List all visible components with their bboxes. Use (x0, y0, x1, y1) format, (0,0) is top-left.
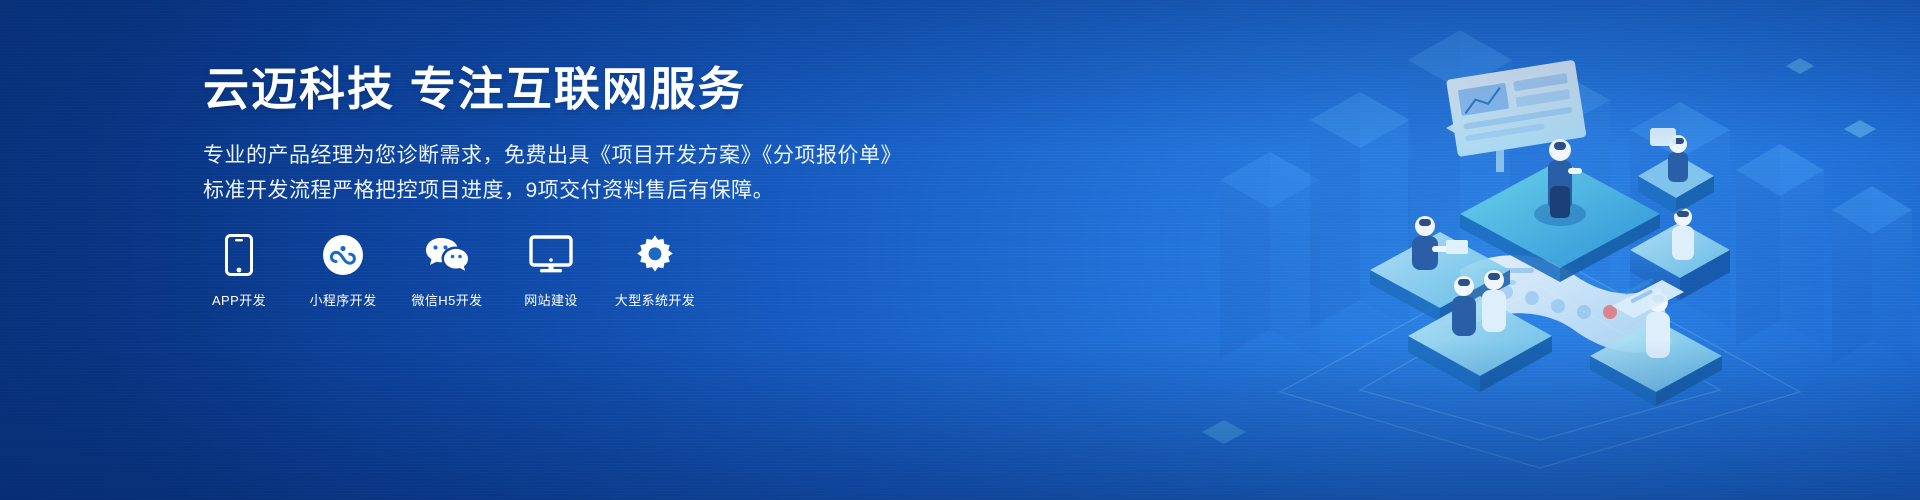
service-list: APP开发 小程序开发 (203, 232, 691, 309)
isometric-illustration (1160, 0, 1920, 500)
monitor-icon (529, 232, 573, 278)
gear-icon (634, 232, 676, 278)
mini-program-icon (322, 232, 364, 278)
service-item-app[interactable]: APP开发 (203, 232, 275, 309)
service-label-large-system: 大型系统开发 (615, 290, 695, 309)
service-label-website: 网站建设 (524, 290, 578, 309)
service-label-miniprogram: 小程序开发 (309, 290, 376, 309)
mobile-phone-icon (225, 232, 253, 278)
hero-subtitle-line-2: 标准开发流程严格把控项目进度，9项交付资料售后有保障。 (203, 173, 903, 208)
service-item-miniprogram[interactable]: 小程序开发 (307, 232, 379, 309)
hero-banner: 云迈科技 专注互联网服务 专业的产品经理为您诊断需求，免费出具《项目开发方案》《… (0, 0, 1920, 500)
hero-copy: 云迈科技 专注互联网服务 专业的产品经理为您诊断需求，免费出具《项目开发方案》《… (203, 66, 903, 208)
hero-subtitle-line-1: 专业的产品经理为您诊断需求，免费出具《项目开发方案》《分项报价单》 (203, 138, 903, 173)
wechat-icon (424, 232, 470, 278)
service-item-large-system[interactable]: 大型系统开发 (619, 232, 691, 309)
service-item-website[interactable]: 网站建设 (515, 232, 587, 309)
page-title: 云迈科技 专注互联网服务 (203, 66, 903, 112)
service-label-app: APP开发 (212, 290, 266, 309)
service-label-wechat-h5: 微信H5开发 (411, 290, 482, 309)
service-item-wechat-h5[interactable]: 微信H5开发 (411, 232, 483, 309)
hero-subtitle: 专业的产品经理为您诊断需求，免费出具《项目开发方案》《分项报价单》 标准开发流程… (203, 138, 903, 208)
